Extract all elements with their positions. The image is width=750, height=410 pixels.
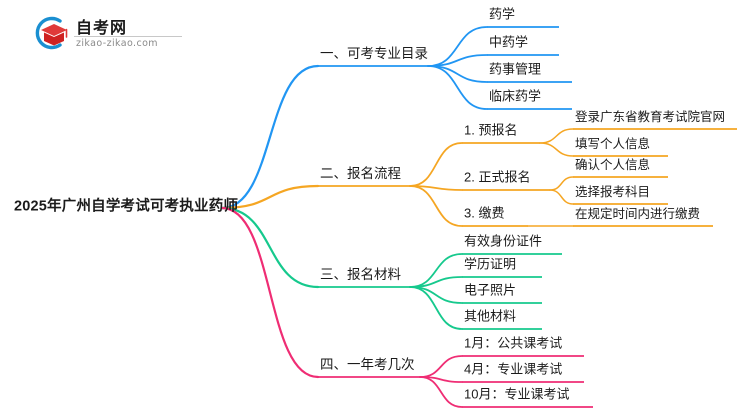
connector-b3-c3: [410, 287, 462, 303]
connector-b1-c1: [428, 27, 487, 66]
branch-2-child-2[interactable]: 2. 正式报名: [462, 171, 532, 188]
branch-2-child-1-sub-1-label: 登录广东省教育考试院官网: [573, 110, 727, 126]
branch-4-child-2-label: 4月：专业课考试: [462, 363, 564, 380]
logo-brand-text: 自考网: [76, 14, 127, 38]
branch-1-child-1[interactable]: 药学: [487, 8, 517, 25]
branch-2-child-1[interactable]: 1. 预报名: [462, 124, 519, 141]
branch-1-child-2[interactable]: 中药学: [487, 36, 530, 53]
connector-b2-c2-g1: [550, 177, 573, 190]
branch-2-child-3-sub-1[interactable]: 在规定时间内进行缴费: [573, 207, 702, 223]
branch-4-child-3[interactable]: 10月：专业课考试: [462, 388, 571, 405]
connector-b2-c2-g2: [550, 190, 573, 204]
connector-b3-c1: [410, 254, 462, 287]
branch-node-4-label: 四、一年考几次: [318, 357, 417, 375]
logo-divider: [74, 36, 182, 37]
branch-node-1-label: 一、可考专业目录: [318, 46, 430, 64]
connector-b2-c2: [410, 186, 462, 190]
branch-2-child-1-sub-2[interactable]: 填写个人信息: [573, 137, 652, 153]
connector-b1-c2: [428, 55, 487, 66]
branch-3-child-3[interactable]: 电子照片: [462, 284, 518, 301]
branch-node-3-label: 三、报名材料: [318, 267, 403, 285]
connector-b4-c3: [420, 377, 462, 407]
root-node[interactable]: 2025年广州自学考试可考执业药师: [12, 199, 240, 218]
connector-b2-c1-g1: [540, 129, 573, 143]
branch-4-child-1-label: 1月：公共课考试: [462, 337, 564, 354]
connector-root-branch-4: [222, 208, 318, 377]
connector-b4-c2: [420, 377, 462, 382]
branch-4-child-1[interactable]: 1月：公共课考试: [462, 337, 564, 354]
branch-2-child-2-sub-2[interactable]: 选择报考科目: [573, 185, 652, 201]
connector-b1-c4: [428, 66, 487, 109]
logo-mark-icon: [30, 14, 70, 52]
connector-b3-c2: [410, 277, 462, 287]
branch-1-child-4[interactable]: 临床药学: [487, 90, 543, 107]
branch-4-child-3-label: 10月：专业课考试: [462, 388, 571, 405]
branch-1-child-1-label: 药学: [487, 8, 517, 25]
branch-2-child-3-sub-1-label: 在规定时间内进行缴费: [573, 207, 702, 223]
connector-b2-c1-g2: [540, 143, 573, 156]
branch-3-child-2-label: 学历证明: [462, 258, 518, 275]
site-logo: 自考网 zikao-zikao.com: [30, 12, 190, 56]
root-node-label: 2025年广州自学考试可考执业药师: [12, 199, 240, 218]
branch-1-child-4-label: 临床药学: [487, 90, 543, 107]
branch-2-child-2-sub-1-label: 确认个人信息: [573, 158, 652, 174]
mindmap-canvas: 自考网 zikao-zikao.com 2025年广州自学考试可考执业药师一、可…: [0, 0, 750, 410]
branch-3-child-4-label: 其他材料: [462, 310, 518, 327]
branch-node-4[interactable]: 四、一年考几次: [318, 357, 417, 375]
branch-3-child-1[interactable]: 有效身份证件: [462, 235, 544, 252]
branch-2-child-2-label: 2. 正式报名: [462, 171, 532, 188]
branch-node-2-label: 二、报名流程: [318, 166, 403, 184]
branch-2-child-1-sub-2-label: 填写个人信息: [573, 137, 652, 153]
branch-2-child-3[interactable]: 3. 缴费: [462, 207, 506, 224]
branch-node-2[interactable]: 二、报名流程: [318, 166, 403, 184]
branch-3-child-2[interactable]: 学历证明: [462, 258, 518, 275]
branch-2-child-2-sub-2-label: 选择报考科目: [573, 185, 652, 201]
logo-url-text: zikao-zikao.com: [76, 38, 158, 49]
branch-3-child-3-label: 电子照片: [462, 284, 518, 301]
connector-root-branch-1: [222, 66, 318, 208]
connector-b4-c1: [420, 356, 462, 377]
branch-3-child-1-label: 有效身份证件: [462, 235, 544, 252]
branch-3-child-4[interactable]: 其他材料: [462, 310, 518, 327]
branch-4-child-2[interactable]: 4月：专业课考试: [462, 363, 564, 380]
connector-b1-c3: [428, 66, 487, 82]
connector-b3-c4: [410, 287, 462, 329]
branch-node-1[interactable]: 一、可考专业目录: [318, 46, 430, 64]
branch-2-child-2-sub-1[interactable]: 确认个人信息: [573, 158, 652, 174]
branch-1-child-3-label: 药事管理: [487, 63, 543, 80]
connector-b2-c3: [410, 186, 462, 226]
connector-root-branch-3: [222, 208, 318, 287]
connector-b2-c1: [410, 143, 462, 186]
branch-2-child-1-sub-1[interactable]: 登录广东省教育考试院官网: [573, 110, 727, 126]
branch-2-child-3-label: 3. 缴费: [462, 207, 506, 224]
branch-2-child-1-label: 1. 预报名: [462, 124, 519, 141]
branch-1-child-3[interactable]: 药事管理: [487, 63, 543, 80]
branch-node-3[interactable]: 三、报名材料: [318, 267, 403, 285]
branch-1-child-2-label: 中药学: [487, 36, 530, 53]
